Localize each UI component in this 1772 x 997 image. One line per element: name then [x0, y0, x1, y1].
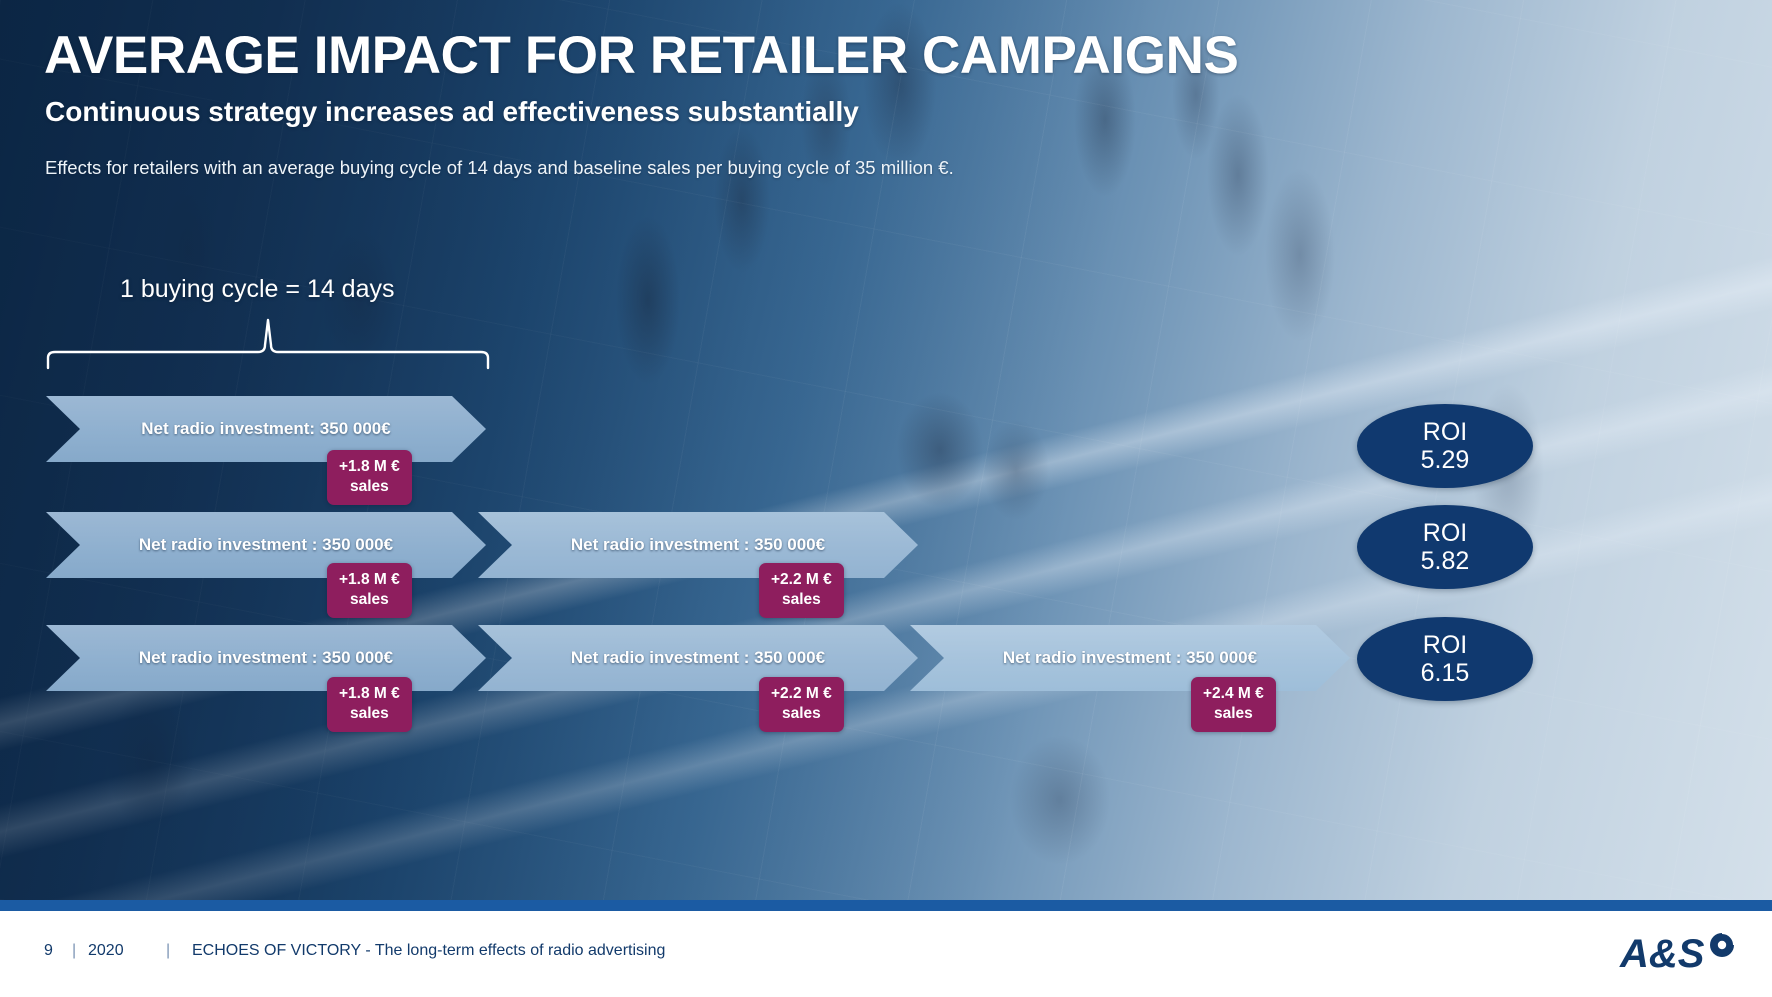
chevron-step[interactable]: Net radio investment : 350 000€: [46, 625, 486, 691]
roi-label: ROI: [1423, 631, 1467, 659]
sales-badge: +1.8 M € sales: [327, 677, 412, 732]
footer-year: 2020: [88, 942, 124, 960]
sales-badge-unit: sales: [339, 704, 400, 724]
svg-text:A&S: A&S: [1619, 932, 1705, 976]
chevron-step[interactable]: Net radio investment : 350 000€: [910, 625, 1350, 691]
footer-separator-2: |: [166, 942, 170, 960]
sales-badge-unit: sales: [1203, 704, 1264, 724]
chevron-step[interactable]: Net radio investment : 350 000€: [478, 625, 918, 691]
campaign-rows: Net radio investment: 350 000€ +1.8 M € …: [0, 0, 1772, 900]
sales-badge-value: +2.4 M €: [1203, 684, 1264, 704]
chevron-label: Net radio investment : 350 000€: [571, 648, 825, 668]
sales-badge: +1.8 M € sales: [327, 450, 412, 505]
sales-badge-value: +1.8 M €: [339, 457, 400, 477]
roi-ellipse: ROI 5.82: [1357, 505, 1533, 589]
chevron-label: Net radio investment : 350 000€: [139, 648, 393, 668]
roi-ellipse: ROI 6.15: [1357, 617, 1533, 701]
sales-badge-value: +1.8 M €: [339, 684, 400, 704]
sales-badge: +2.2 M € sales: [759, 677, 844, 732]
roi-value: 5.82: [1421, 547, 1470, 575]
sales-badge-unit: sales: [339, 477, 400, 497]
sales-badge-unit: sales: [339, 590, 400, 610]
roi-ellipse: ROI 5.29: [1357, 404, 1533, 488]
chevron-step[interactable]: Net radio investment : 350 000€: [46, 512, 486, 578]
roi-value: 6.15: [1421, 659, 1470, 687]
chevron-step[interactable]: Net radio investment: 350 000€: [46, 396, 486, 462]
sales-badge: +2.2 M € sales: [759, 563, 844, 618]
sales-badge: +2.4 M € sales: [1191, 677, 1276, 732]
sales-badge-unit: sales: [771, 590, 832, 610]
footer-accent-bar: [0, 900, 1772, 911]
chevron-label: Net radio investment: 350 000€: [141, 419, 390, 439]
roi-value: 5.29: [1421, 446, 1470, 474]
sales-badge-value: +2.2 M €: [771, 684, 832, 704]
sales-badge-unit: sales: [771, 704, 832, 724]
presentation-slide: AVERAGE IMPACT FOR RETAILER CAMPAIGNS Co…: [0, 0, 1772, 997]
sales-badge: +1.8 M € sales: [327, 563, 412, 618]
footer-description: ECHOES OF VICTORY - The long-term effect…: [192, 942, 665, 960]
chevron-label: Net radio investment : 350 000€: [571, 535, 825, 555]
sales-badge-value: +2.2 M €: [771, 570, 832, 590]
roi-label: ROI: [1423, 519, 1467, 547]
chevron-label: Net radio investment : 350 000€: [1003, 648, 1257, 668]
sales-badge-value: +1.8 M €: [339, 570, 400, 590]
chevron-step[interactable]: Net radio investment : 350 000€: [478, 512, 918, 578]
footer-page-number: 9: [44, 942, 53, 960]
roi-label: ROI: [1423, 418, 1467, 446]
as-logo-icon: A&S: [1618, 925, 1738, 981]
chevron-label: Net radio investment : 350 000€: [139, 535, 393, 555]
footer-separator-1: |: [72, 942, 76, 960]
